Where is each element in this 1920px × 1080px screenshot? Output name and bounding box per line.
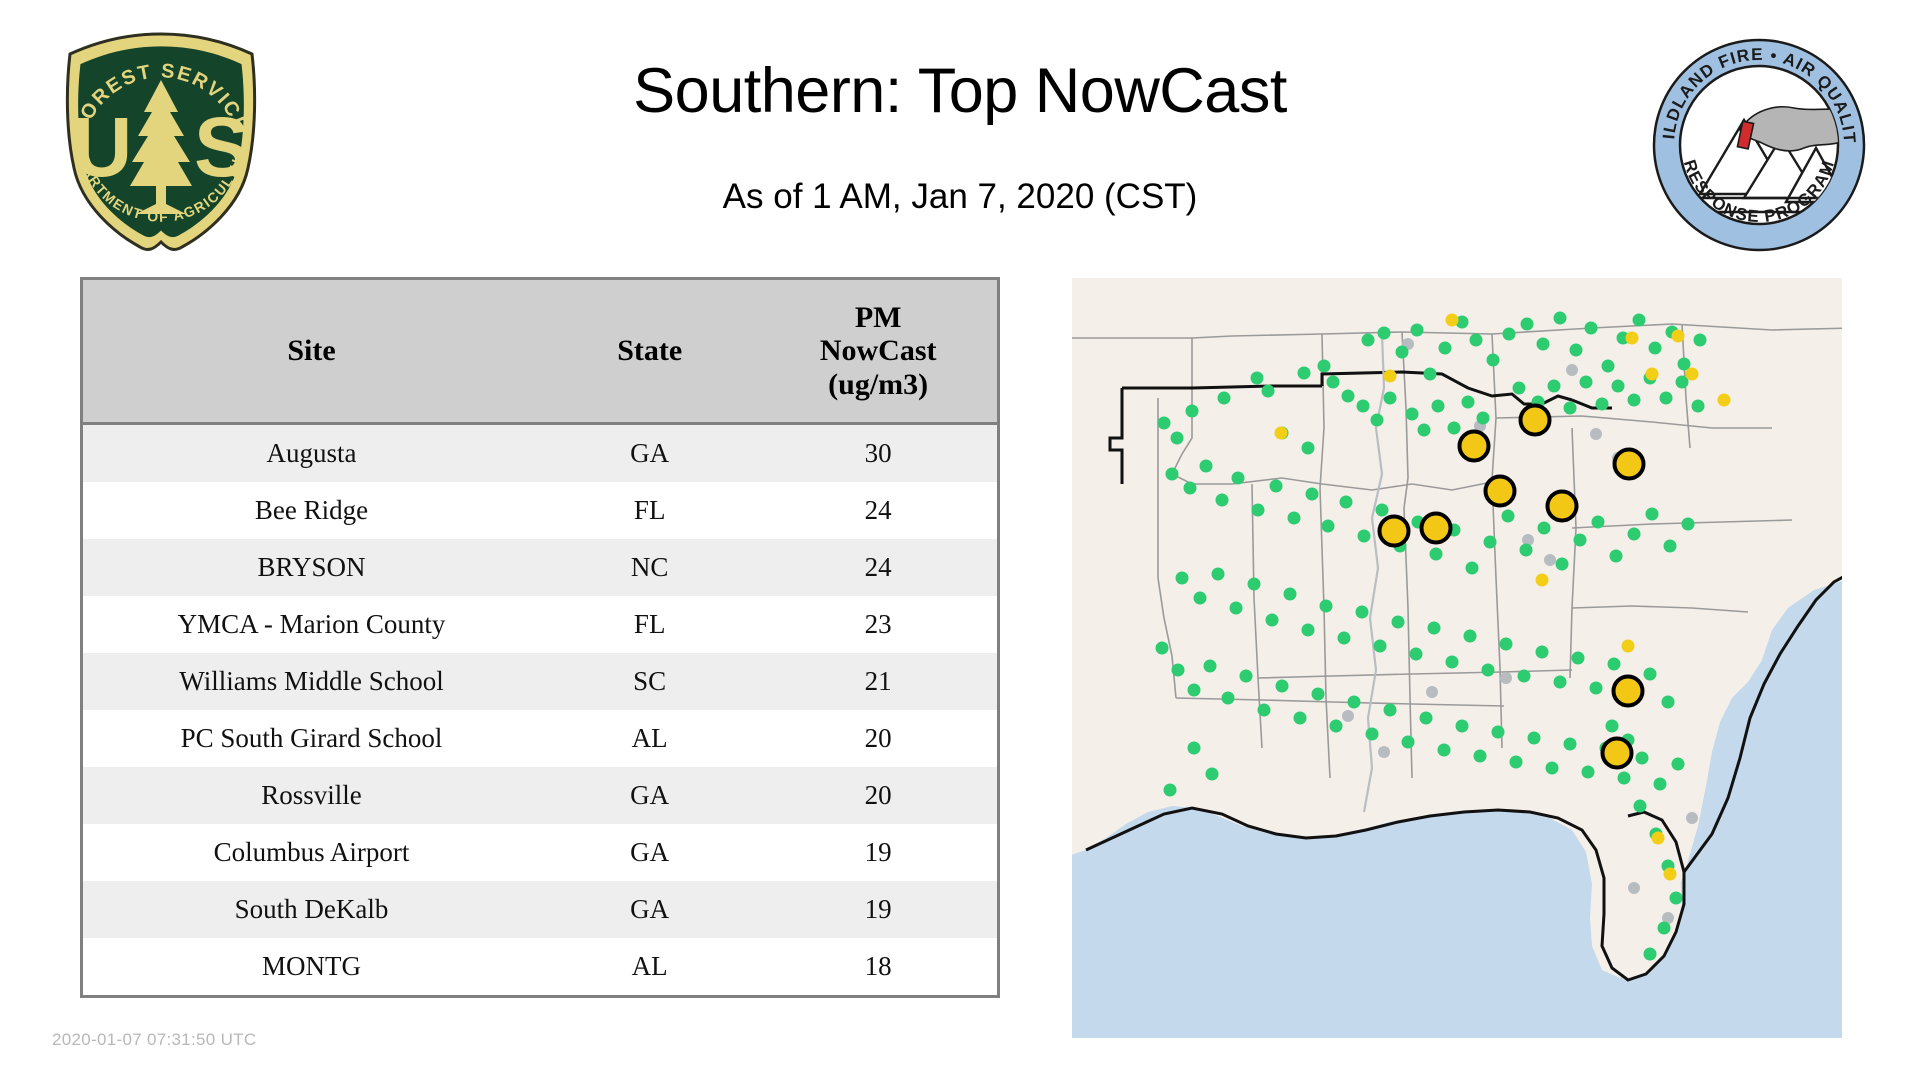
monitor-dot-good[interactable] [1662, 696, 1675, 709]
monitor-dot-good[interactable] [1644, 948, 1657, 961]
monitor-dot-good[interactable] [1424, 368, 1437, 381]
monitor-dot-good[interactable] [1694, 334, 1707, 347]
monitor-dot-good[interactable] [1513, 382, 1526, 395]
monitor-dot-good[interactable] [1362, 334, 1375, 347]
monitor-dot-good[interactable] [1418, 424, 1431, 437]
monitor-dot-good[interactable] [1402, 736, 1415, 749]
monitor-dot-good[interactable] [1585, 322, 1598, 335]
cell-site: MONTG [83, 938, 540, 995]
page-header: FOREST SERVICE DEPARTMENT OF AGRICULTURE… [0, 0, 1920, 270]
monitor-dot-good[interactable] [1500, 638, 1513, 651]
monitor-dot-good[interactable] [1439, 342, 1452, 355]
wfaqrp-logo: WILDLAND FIRE • AIR QUALITY RESPONSE PRO… [1648, 34, 1870, 256]
monitor-dot-good[interactable] [1692, 400, 1705, 413]
monitor-dot-good[interactable] [1682, 518, 1695, 531]
cell-pm-nowcast: 21 [759, 653, 997, 710]
top-site-marker[interactable] [1519, 404, 1552, 437]
cell-site: YMCA - Marion County [83, 596, 540, 653]
monitor-dot-good[interactable] [1470, 334, 1483, 347]
monitor-dot-good[interactable] [1477, 412, 1490, 425]
monitor-dot-good[interactable] [1302, 624, 1315, 637]
monitor-dot-good[interactable] [1670, 892, 1683, 905]
monitor-dot-good[interactable] [1376, 504, 1389, 517]
monitor-dot-good[interactable] [1320, 600, 1333, 613]
monitor-dot-good[interactable] [1230, 602, 1243, 615]
monitor-dot-good[interactable] [1420, 712, 1433, 725]
monitor-dot-good[interactable] [1184, 482, 1197, 495]
monitor-dot-good[interactable] [1492, 726, 1505, 739]
cell-site: Augusta [83, 424, 540, 483]
cell-pm-nowcast: 19 [759, 881, 997, 938]
monitor-dot-good[interactable] [1636, 752, 1649, 765]
cell-site: Bee Ridge [83, 482, 540, 539]
pm-header-line-1: PM [855, 301, 902, 334]
monitor-dot-good[interactable] [1554, 676, 1567, 689]
table-row[interactable]: YMCA - Marion CountyFL23 [83, 596, 997, 653]
monitor-dot-good[interactable] [1502, 510, 1515, 523]
monitor-dot-good[interactable] [1327, 376, 1340, 389]
table-row[interactable]: RossvilleGA20 [83, 767, 997, 824]
monitor-dot-good[interactable] [1654, 778, 1667, 791]
monitor-dot-good[interactable] [1306, 488, 1319, 501]
monitor-dot-good[interactable] [1602, 360, 1615, 373]
monitor-dot-good[interactable] [1378, 327, 1391, 340]
cell-site: Columbus Airport [83, 824, 540, 881]
table-row[interactable]: South DeKalbGA19 [83, 881, 997, 938]
monitor-dot-good[interactable] [1411, 324, 1424, 337]
monitor-dot-good[interactable] [1270, 480, 1283, 493]
monitor-dot-good[interactable] [1164, 784, 1177, 797]
monitor-dot-good[interactable] [1262, 385, 1275, 398]
top-site-marker[interactable] [1378, 515, 1411, 548]
top-site-marker[interactable] [1601, 737, 1634, 770]
cell-pm-nowcast: 24 [759, 482, 997, 539]
monitor-dot-good[interactable] [1392, 616, 1405, 629]
monitor-dot-unavailable[interactable] [1686, 812, 1698, 824]
monitor-dot-good[interactable] [1456, 720, 1469, 733]
monitor-dot-good[interactable] [1266, 614, 1279, 627]
top-site-marker[interactable] [1458, 430, 1491, 463]
monitor-dot-good[interactable] [1357, 400, 1370, 413]
monitor-dot-good[interactable] [1330, 720, 1343, 733]
monitor-dot-moderate[interactable] [1718, 394, 1731, 407]
monitor-dot-moderate[interactable] [1446, 314, 1459, 327]
monitor-dot-good[interactable] [1462, 396, 1475, 409]
monitor-dot-good[interactable] [1482, 664, 1495, 677]
monitor-dot-good[interactable] [1608, 658, 1621, 671]
monitor-dot-good[interactable] [1528, 732, 1541, 745]
monitor-dot-good[interactable] [1218, 392, 1231, 405]
monitor-dot-good[interactable] [1171, 432, 1184, 445]
top-site-marker[interactable] [1420, 512, 1453, 545]
monitor-dot-good[interactable] [1628, 528, 1641, 541]
monitor-dot-good[interactable] [1658, 922, 1671, 935]
monitor-dot-good[interactable] [1582, 766, 1595, 779]
monitor-dot-good[interactable] [1574, 534, 1587, 547]
monitor-dot-good[interactable] [1348, 696, 1361, 709]
monitor-dot-unavailable[interactable] [1544, 554, 1556, 566]
monitor-dot-good[interactable] [1406, 408, 1419, 421]
monitor-dot-good[interactable] [1284, 588, 1297, 601]
monitor-dot-good[interactable] [1484, 536, 1497, 549]
monitor-dot-good[interactable] [1646, 508, 1659, 521]
monitor-dot-good[interactable] [1536, 646, 1549, 659]
monitor-dot-unavailable[interactable] [1500, 672, 1512, 684]
monitor-dot-good[interactable] [1302, 442, 1315, 455]
monitor-dot-good[interactable] [1570, 344, 1583, 357]
cell-state: AL [540, 710, 759, 767]
table-header-row: Site State PM NowCast (ug/m3) [83, 280, 997, 424]
top-site-marker[interactable] [1546, 490, 1579, 523]
table-header: Site State PM NowCast (ug/m3) [83, 280, 997, 424]
monitor-dot-good[interactable] [1172, 664, 1185, 677]
monitor-dot-good[interactable] [1206, 768, 1219, 781]
monitor-dot-good[interactable] [1166, 468, 1179, 481]
table-row[interactable]: BRYSONNC24 [83, 539, 997, 596]
table-body: AugustaGA30Bee RidgeFL24BRYSONNC24YMCA -… [83, 424, 997, 996]
monitor-dot-unavailable[interactable] [1342, 710, 1354, 722]
fs-letter-u: U [72, 100, 133, 194]
monitor-dot-good[interactable] [1366, 728, 1379, 741]
cell-pm-nowcast: 18 [759, 938, 997, 995]
top-site-marker[interactable] [1613, 448, 1646, 481]
monitor-dot-good[interactable] [1156, 642, 1169, 655]
cell-state: AL [540, 938, 759, 995]
monitor-dot-unavailable[interactable] [1590, 428, 1602, 440]
monitor-dot-good[interactable] [1474, 750, 1487, 763]
table-row[interactable]: Bee RidgeFL24 [83, 482, 997, 539]
monitor-dot-good[interactable] [1556, 558, 1569, 571]
top-site-marker[interactable] [1484, 475, 1517, 508]
monitor-dot-good[interactable] [1252, 504, 1265, 517]
top-nowcast-table-panel: Site State PM NowCast (ug/m3) AugustaGA3… [80, 277, 1000, 998]
cell-state: NC [540, 539, 759, 596]
monitor-dot-good[interactable] [1432, 400, 1445, 413]
cell-state: GA [540, 881, 759, 938]
monitor-dot-good[interactable] [1672, 758, 1685, 771]
monitor-dot-good[interactable] [1298, 367, 1311, 380]
monitor-dot-good[interactable] [1340, 496, 1353, 509]
monitor-dot-good[interactable] [1240, 670, 1253, 683]
page-subtitle: As of 1 AM, Jan 7, 2020 (CST) [430, 178, 1490, 217]
monitor-dot-good[interactable] [1188, 742, 1201, 755]
monitor-dot-good[interactable] [1664, 540, 1677, 553]
monitor-dot-good[interactable] [1294, 712, 1307, 725]
monitor-dot-good[interactable] [1464, 630, 1477, 643]
monitor-dot-good[interactable] [1518, 670, 1531, 683]
monitor-dot-good[interactable] [1356, 606, 1369, 619]
monitor-dot-good[interactable] [1342, 390, 1355, 403]
cell-state: FL [540, 482, 759, 539]
monitor-dot-good[interactable] [1194, 592, 1207, 605]
monitor-dot-good[interactable] [1521, 318, 1534, 331]
monitor-dot-good[interactable] [1644, 668, 1657, 681]
monitor-dot-good[interactable] [1251, 372, 1264, 385]
cell-site: PC South Girard School [83, 710, 540, 767]
monitor-dot-moderate[interactable] [1646, 368, 1659, 381]
column-header-pm-nowcast[interactable]: PM NowCast (ug/m3) [759, 280, 997, 424]
monitor-dot-moderate[interactable] [1664, 868, 1677, 881]
monitor-dot-good[interactable] [1446, 656, 1459, 669]
monitor-dot-good[interactable] [1374, 640, 1387, 653]
monitor-dot-good[interactable] [1564, 738, 1577, 751]
monitor-dot-good[interactable] [1503, 328, 1516, 341]
monitor-dot-good[interactable] [1618, 772, 1631, 785]
monitor-dot-good[interactable] [1590, 682, 1603, 695]
monitor-dot-good[interactable] [1592, 516, 1605, 529]
monitor-dot-good[interactable] [1200, 460, 1213, 473]
monitor-dot-good[interactable] [1338, 632, 1351, 645]
table-row[interactable]: PC South Girard SchoolAL20 [83, 710, 997, 767]
monitor-dot-good[interactable] [1649, 342, 1662, 355]
monitor-dot-good[interactable] [1428, 622, 1441, 635]
monitor-dot-good[interactable] [1572, 652, 1585, 665]
monitor-dot-good[interactable] [1176, 572, 1189, 585]
column-header-site[interactable]: Site [83, 280, 540, 424]
cell-pm-nowcast: 30 [759, 424, 997, 483]
monitor-dot-good[interactable] [1628, 394, 1641, 407]
cell-pm-nowcast: 20 [759, 710, 997, 767]
monitor-dot-good[interactable] [1358, 530, 1371, 543]
monitor-dot-unavailable[interactable] [1566, 364, 1578, 376]
monitor-dot-good[interactable] [1438, 744, 1451, 757]
monitor-dot-good[interactable] [1466, 562, 1479, 575]
monitor-dot-good[interactable] [1410, 648, 1423, 661]
monitor-dot-good[interactable] [1537, 338, 1550, 351]
monitor-dot-moderate[interactable] [1275, 427, 1288, 440]
monitor-dot-good[interactable] [1222, 692, 1235, 705]
monitor-dot-moderate[interactable] [1672, 330, 1685, 343]
cell-pm-nowcast: 23 [759, 596, 997, 653]
cell-site: Rossville [83, 767, 540, 824]
monitor-dot-good[interactable] [1216, 494, 1229, 507]
monitor-dot-good[interactable] [1258, 704, 1271, 717]
cell-state: GA [540, 824, 759, 881]
table-row[interactable]: MONTGAL18 [83, 938, 997, 995]
monitor-dot-good[interactable] [1633, 314, 1646, 327]
monitor-dot-good[interactable] [1510, 756, 1523, 769]
table-row[interactable]: AugustaGA30 [83, 424, 997, 483]
monitor-dot-good[interactable] [1186, 405, 1199, 418]
cell-state: SC [540, 653, 759, 710]
monitor-dot-good[interactable] [1634, 800, 1647, 813]
monitor-dot-good[interactable] [1548, 380, 1561, 393]
pm-header-line-3: (ug/m3) [828, 368, 928, 401]
monitor-dot-moderate[interactable] [1384, 370, 1397, 383]
monitor-dot-good[interactable] [1276, 680, 1289, 693]
cell-site: BRYSON [83, 539, 540, 596]
footer-timestamp: 2020-01-07 07:31:50 UTC [52, 1030, 256, 1050]
cell-site: South DeKalb [83, 881, 540, 938]
monitor-dot-good[interactable] [1554, 312, 1567, 325]
monitor-dot-good[interactable] [1564, 402, 1577, 415]
cell-pm-nowcast: 19 [759, 824, 997, 881]
monitor-dot-good[interactable] [1520, 544, 1533, 557]
monitor-dot-good[interactable] [1248, 578, 1261, 591]
monitor-dot-moderate[interactable] [1536, 574, 1549, 587]
column-header-state[interactable]: State [540, 280, 759, 424]
monitor-dot-good[interactable] [1596, 398, 1609, 411]
monitor-dot-good[interactable] [1232, 472, 1245, 485]
monitor-dot-good[interactable] [1612, 380, 1625, 393]
monitor-dot-good[interactable] [1487, 354, 1500, 367]
monitor-dot-good[interactable] [1580, 376, 1593, 389]
monitor-dot-good[interactable] [1322, 520, 1335, 533]
table-row[interactable]: Columbus AirportGA19 [83, 824, 997, 881]
monitor-dot-good[interactable] [1430, 548, 1443, 561]
cell-state: GA [540, 767, 759, 824]
monitor-dot-good[interactable] [1384, 704, 1397, 717]
monitor-dot-moderate[interactable] [1652, 832, 1665, 845]
monitor-dot-good[interactable] [1396, 346, 1409, 359]
monitor-dot-good[interactable] [1318, 360, 1331, 373]
monitor-dot-good[interactable] [1538, 522, 1551, 535]
monitor-dot-good[interactable] [1371, 414, 1384, 427]
monitor-dot-moderate[interactable] [1686, 368, 1699, 381]
monitor-dot-unavailable[interactable] [1628, 882, 1640, 894]
monitor-dot-unavailable[interactable] [1378, 746, 1390, 758]
fs-letter-s: S [194, 100, 250, 194]
monitor-dot-good[interactable] [1288, 512, 1301, 525]
monitor-dot-good[interactable] [1660, 392, 1673, 405]
monitor-dot-moderate[interactable] [1622, 640, 1635, 653]
monitor-dot-good[interactable] [1212, 568, 1225, 581]
monitor-dot-good[interactable] [1606, 720, 1619, 733]
monitor-dot-good[interactable] [1610, 550, 1623, 563]
monitor-dot-good[interactable] [1546, 762, 1559, 775]
cell-site: Williams Middle School [83, 653, 540, 710]
top-nowcast-table: Site State PM NowCast (ug/m3) AugustaGA3… [83, 280, 997, 995]
pm-header-line-2: NowCast [820, 334, 937, 367]
cell-pm-nowcast: 20 [759, 767, 997, 824]
us-forest-service-shield-logo: FOREST SERVICE DEPARTMENT OF AGRICULTURE… [56, 28, 266, 256]
cell-pm-nowcast: 24 [759, 539, 997, 596]
monitor-dot-moderate[interactable] [1626, 332, 1639, 345]
air-quality-monitor-map[interactable]: Air Quality Index HazardousVery Unhealth… [1072, 278, 1842, 1038]
monitor-dot-good[interactable] [1384, 392, 1397, 405]
monitor-dot-unavailable[interactable] [1426, 686, 1438, 698]
monitor-dot-good[interactable] [1448, 422, 1461, 435]
cell-state: GA [540, 424, 759, 483]
monitor-dot-good[interactable] [1158, 417, 1171, 430]
monitor-dot-good[interactable] [1188, 684, 1201, 697]
table-row[interactable]: Williams Middle SchoolSC21 [83, 653, 997, 710]
monitor-dot-good[interactable] [1312, 688, 1325, 701]
cell-state: FL [540, 596, 759, 653]
top-site-marker[interactable] [1612, 675, 1645, 708]
monitor-dot-good[interactable] [1204, 660, 1217, 673]
page-title: Southern: Top NowCast [430, 58, 1490, 124]
